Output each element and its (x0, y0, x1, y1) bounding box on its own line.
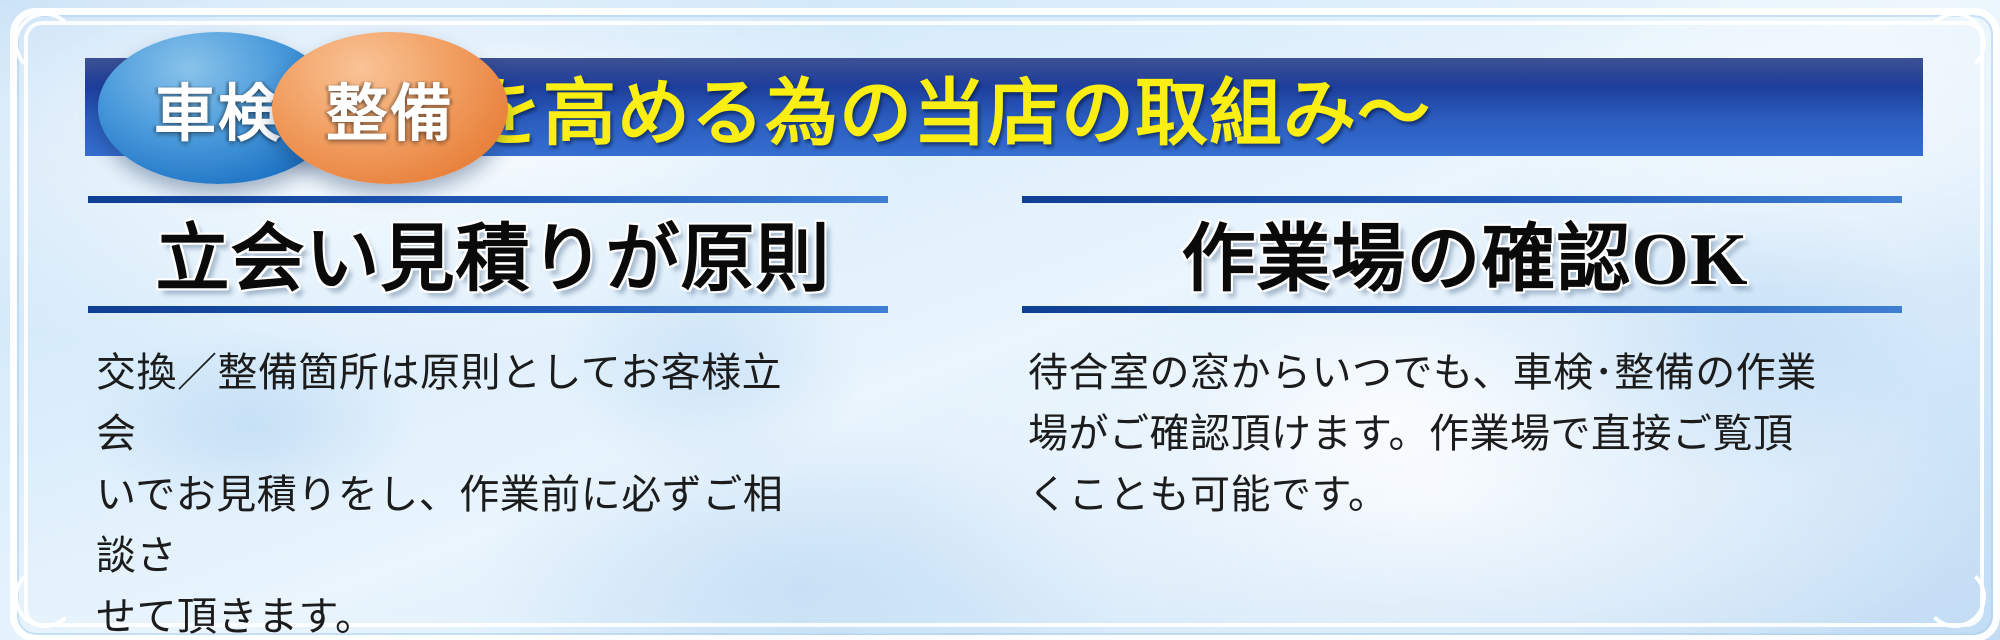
body-line: せて頂きます。 (96, 587, 816, 640)
tachiai-column-heading: 立会い見積りが原則 (88, 213, 888, 306)
shaken-badge-label: 車検 (154, 63, 282, 153)
frame-corner-top-left (14, 12, 76, 74)
frame-corner-bottom-left (14, 566, 76, 628)
seibi-badge-label: 整備 (326, 63, 454, 153)
body-line: くことも可能です。 (1028, 465, 1828, 526)
frame-corner-top-right (1924, 12, 1986, 74)
frame-corner-bottom-right (1924, 566, 1986, 628)
sagyouba-column: 作業場の確認OK 待合室の窓からいつでも、車検･整備の作業 場がご確認頂けます。… (1022, 196, 1902, 526)
body-line: 待合室の窓からいつでも、車検･整備の作業 (1028, 343, 1828, 404)
promo-banner: 〜透明性を高める為の当店の取組み〜 車検 整備 立会い見積りが原則 交換／整備箇… (0, 0, 2000, 640)
column-rule-bottom (88, 306, 888, 313)
tachiai-column: 立会い見積りが原則 交換／整備箇所は原則としてお客様立会 いでお見積りをし、作業… (88, 196, 888, 640)
body-line: いでお見積りをし、作業前に必ずご相談さ (96, 465, 816, 587)
seibi-badge: 整備 (272, 32, 508, 184)
body-line: 場がご確認頂けます。作業場で直接ご覧頂 (1028, 404, 1828, 465)
sagyouba-column-heading: 作業場の確認OK (1022, 213, 1902, 306)
body-line: 交換／整備箇所は原則としてお客様立会 (96, 343, 816, 465)
column-rule-top (1022, 196, 1902, 203)
column-rule-top (88, 196, 888, 203)
tachiai-column-body: 交換／整備箇所は原則としてお客様立会 いでお見積りをし、作業前に必ずご相談さ せ… (88, 343, 816, 640)
column-rule-bottom (1022, 306, 1902, 313)
sagyouba-column-body: 待合室の窓からいつでも、車検･整備の作業 場がご確認頂けます。作業場で直接ご覧頂… (1022, 343, 1828, 525)
